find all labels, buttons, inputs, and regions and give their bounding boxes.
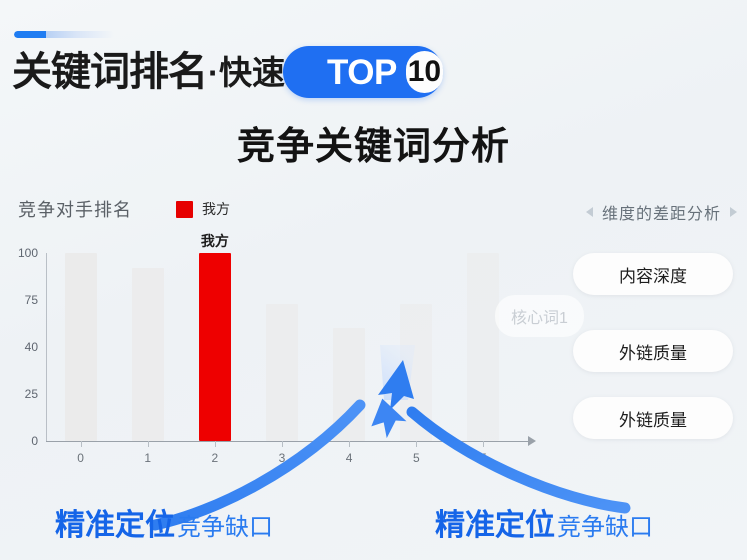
headline-main-text: 关键词排名 [12, 52, 207, 92]
dimension-pill[interactable]: 外链质量 [573, 330, 733, 372]
x-axis-tick-label: 5 [480, 451, 487, 465]
top-badge-label: TOP [327, 55, 397, 90]
caption-right: 精准定位 竞争缺口 [435, 500, 653, 544]
x-axis-tick-label: 5 [413, 451, 420, 465]
triangle-left-icon[interactable] [586, 207, 593, 217]
x-axis-tick-mark [215, 441, 216, 447]
ghost-keyword-pill: 核心词1 [495, 295, 584, 337]
y-axis-tick: 100 [18, 246, 38, 260]
panel-header: 维度的差距分析 [586, 200, 737, 224]
chart-bar [467, 253, 499, 441]
x-axis-line [46, 441, 530, 442]
chart-bar [199, 253, 231, 441]
x-axis-arrow-icon [528, 436, 536, 446]
triangle-right-icon[interactable] [730, 207, 737, 217]
x-axis-tick-mark [416, 441, 417, 447]
x-axis-tick-mark [483, 441, 484, 447]
chart-legend: 我方 [176, 199, 230, 219]
top-badge-number: 10 [406, 51, 443, 93]
dimension-pill[interactable]: 内容深度 [573, 253, 733, 295]
x-axis-tick-label: 0 [77, 451, 84, 465]
x-axis-tick-label: 4 [346, 451, 353, 465]
chart-title: 竞争对手排名 [18, 196, 132, 222]
highlight-bar-label: 我方 [201, 231, 229, 251]
x-axis-tick-label: 2 [212, 451, 219, 465]
panel-title: 维度的差距分析 [602, 200, 721, 224]
page-title: 竞争关键词分析 [0, 115, 747, 170]
chart-bar [333, 328, 365, 441]
top-rank-badge: TOP 10 [283, 46, 443, 98]
accent-progress-fill [14, 31, 46, 38]
x-axis-tick-mark [81, 441, 82, 447]
chart-bar [65, 253, 97, 441]
chart-header: 竞争对手排名 我方 [18, 196, 230, 222]
chart-bar [400, 304, 432, 441]
caption-right-strong: 精准定位 [435, 500, 555, 544]
dimension-pill[interactable]: 外链质量 [573, 397, 733, 439]
legend-label: 我方 [202, 199, 230, 219]
headline: 关键词排名 ·快速 [12, 44, 285, 100]
x-axis-tick-label: 1 [144, 451, 151, 465]
chart-bar [132, 268, 164, 441]
x-axis-tick-mark [148, 441, 149, 447]
chart-plot-area: 我方 [47, 253, 517, 441]
y-axis-tick: 0 [31, 434, 38, 448]
x-axis-tick-mark [349, 441, 350, 447]
legend-swatch-icon [176, 201, 193, 218]
bar-chart: 1007540250 我方 0123455 [0, 236, 545, 476]
headline-sub-text: ·快速 [208, 56, 285, 89]
x-axis-tick-mark [282, 441, 283, 447]
accent-progress-track [46, 31, 114, 38]
y-axis-tick: 40 [25, 340, 38, 354]
y-axis-tick: 25 [25, 387, 38, 401]
caption-left-weak: 竞争缺口 [177, 507, 273, 542]
caption-left: 精准定位 竞争缺口 [55, 500, 273, 544]
caption-right-weak: 竞争缺口 [557, 507, 653, 542]
accent-progress-bar [14, 31, 114, 38]
caption-left-strong: 精准定位 [55, 500, 175, 544]
x-axis-tick-label: 3 [279, 451, 286, 465]
chart-bar [266, 304, 298, 441]
y-axis-tick: 75 [25, 293, 38, 307]
y-axis-labels: 1007540250 [0, 236, 46, 441]
